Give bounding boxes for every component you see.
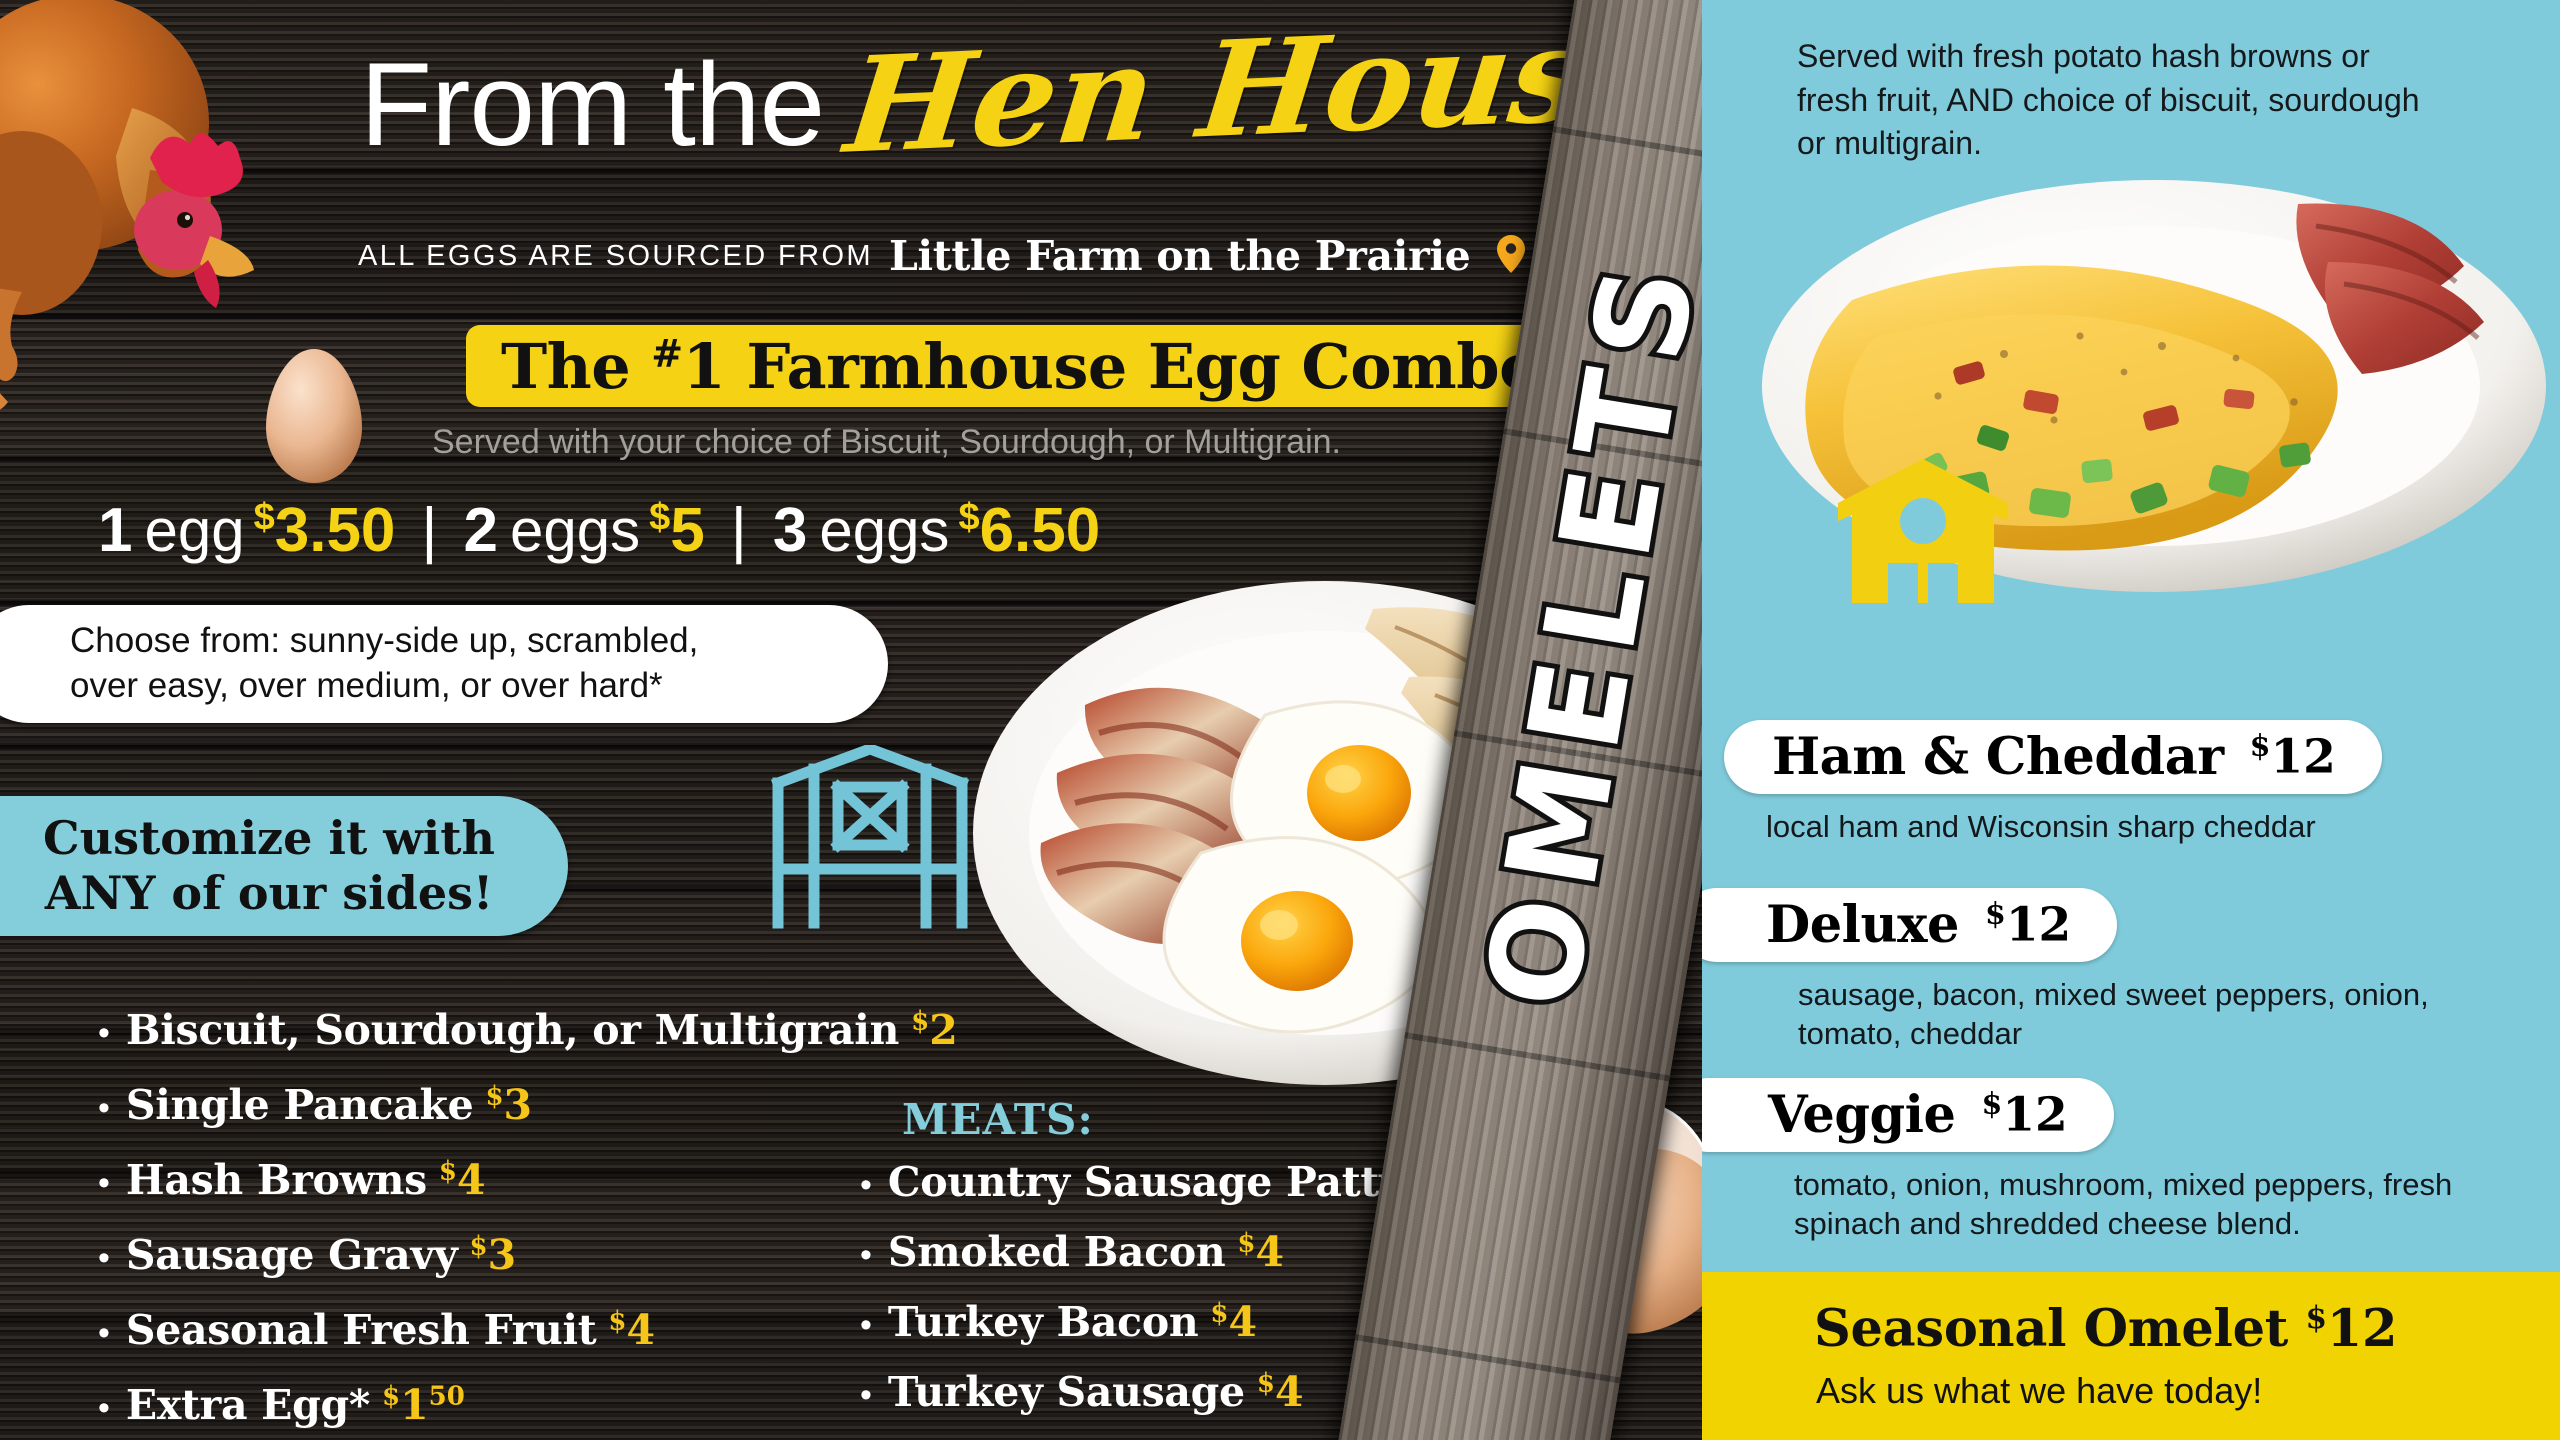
page-title: From the Hen House bbox=[360, 46, 1668, 164]
price-amount-3: $6.50 bbox=[958, 495, 1100, 566]
omelet-item-veggie: Veggie $12 tomato, onion, mushroom, mixe… bbox=[1702, 1078, 2454, 1244]
combo-banner: The #1 Farmhouse Egg Combo bbox=[466, 325, 1575, 407]
list-item: • Seasonal Fresh Fruit $4 bbox=[98, 1306, 958, 1354]
bullet-icon: • bbox=[98, 1091, 110, 1125]
omelet-description: local ham and Wisconsin sharp cheddar bbox=[1766, 808, 2382, 847]
meat-price: $4 bbox=[1210, 1298, 1257, 1346]
meat-name: Turkey Sausage bbox=[888, 1368, 1245, 1416]
side-name: Sausage Gravy bbox=[126, 1231, 458, 1279]
choose-line-2: over easy, over medium, or over hard* bbox=[70, 666, 663, 705]
price-separator-2: | bbox=[731, 495, 747, 566]
egg-style-callout: Choose from: sunny-side up, scrambled, o… bbox=[0, 605, 888, 723]
omelet-item-deluxe: Deluxe $12 sausage, bacon, mixed sweet p… bbox=[1702, 888, 2438, 1054]
side-name: Extra Egg* bbox=[126, 1381, 370, 1429]
omelet-name: Deluxe bbox=[1766, 895, 1959, 955]
list-item: • Country Sausage Patty $4 bbox=[860, 1158, 1461, 1206]
omelet-name-pill: Deluxe $12 bbox=[1702, 888, 2117, 962]
price-unit-3: eggs bbox=[819, 496, 949, 565]
customize-line-1: Customize it with bbox=[43, 811, 495, 865]
omelet-name: Veggie bbox=[1768, 1085, 1955, 1145]
side-price: $3 bbox=[485, 1081, 532, 1129]
side-price: $2 bbox=[911, 1006, 958, 1054]
sourced-label: ALL EGGS ARE SOURCED FROM bbox=[358, 240, 873, 273]
side-name: Biscuit, Sourdough, or Multigrain bbox=[126, 1006, 899, 1054]
omelet-price: $12 bbox=[1985, 897, 2071, 953]
side-price: $150 bbox=[382, 1381, 465, 1429]
omelet-description: tomato, onion, mushroom, mixed peppers, … bbox=[1794, 1166, 2454, 1244]
side-price: $4 bbox=[439, 1156, 486, 1204]
side-name: Hash Browns bbox=[126, 1156, 427, 1204]
list-item: • Sausage Gravy $3 bbox=[98, 1231, 958, 1279]
choose-line-1: Choose from: sunny-side up, scrambled, bbox=[70, 621, 698, 660]
list-item: • Biscuit, Sourdough, or Multigrain $2 bbox=[98, 1006, 958, 1054]
omelet-item-ham-cheddar: Ham & Cheddar $12 local ham and Wisconsi… bbox=[1724, 720, 2382, 847]
omelet-price: $12 bbox=[2250, 729, 2336, 785]
seasonal-omelet-band: Seasonal Omelet $12 Ask us what we have … bbox=[1702, 1272, 2560, 1440]
barn-outline-icon bbox=[770, 745, 970, 930]
bullet-icon: • bbox=[860, 1378, 872, 1412]
bullet-icon: • bbox=[98, 1016, 110, 1050]
side-price: $4 bbox=[608, 1306, 655, 1354]
omelet-name-pill: Ham & Cheddar $12 bbox=[1724, 720, 2382, 794]
side-name: Single Pancake bbox=[126, 1081, 474, 1129]
title-plain: From the bbox=[360, 46, 824, 164]
menu-board: From the Hen House ALL EGGS ARE SOURCED … bbox=[0, 0, 2560, 1440]
bullet-icon: • bbox=[98, 1391, 110, 1425]
whole-egg-photo bbox=[258, 345, 370, 487]
seasonal-omelet-subtitle: Ask us what we have today! bbox=[1816, 1370, 2262, 1412]
farm-name: Little Farm on the Prairie bbox=[889, 232, 1470, 280]
customize-line-2: ANY of our sides! bbox=[45, 866, 493, 920]
meat-name: Country Sausage Patty bbox=[888, 1158, 1403, 1206]
barn-solid-icon bbox=[1834, 455, 2012, 603]
seasonal-omelet-title: Seasonal Omelet $12 bbox=[1814, 1299, 2397, 1359]
omelets-served-note: Served with fresh potato hash browns or … bbox=[1797, 35, 2437, 166]
price-unit-1: egg bbox=[144, 496, 244, 565]
meat-price: $4 bbox=[1237, 1228, 1284, 1276]
meat-name: Turkey Bacon bbox=[888, 1298, 1199, 1346]
map-pin-icon bbox=[1496, 234, 1526, 279]
bullet-icon: • bbox=[98, 1316, 110, 1350]
bullet-icon: • bbox=[860, 1168, 872, 1202]
meat-price: $4 bbox=[1257, 1368, 1304, 1416]
customize-callout: Customize it with ANY of our sides! bbox=[0, 796, 568, 936]
bullet-icon: • bbox=[860, 1238, 872, 1272]
sides-list: • Biscuit, Sourdough, or Multigrain $2 •… bbox=[58, 1006, 958, 1440]
combo-banner-text: The #1 Farmhouse Egg Combo bbox=[501, 330, 1540, 403]
meats-heading: MEATS: bbox=[902, 1095, 1461, 1144]
price-amount-1: $3.50 bbox=[254, 495, 396, 566]
list-item: • Extra Egg* $150 bbox=[98, 1381, 958, 1429]
list-item: • Hash Browns $4 bbox=[98, 1156, 958, 1204]
omelet-description: sausage, bacon, mixed sweet peppers, oni… bbox=[1798, 976, 2438, 1054]
price-count-1: 1 bbox=[98, 495, 132, 566]
meat-name: Smoked Bacon bbox=[888, 1228, 1226, 1276]
side-price: $3 bbox=[470, 1231, 517, 1279]
price-amount-2: $5 bbox=[649, 495, 705, 566]
side-name: Seasonal Fresh Fruit bbox=[126, 1306, 596, 1354]
price-unit-2: eggs bbox=[510, 496, 640, 565]
omelet-name-pill: Veggie $12 bbox=[1702, 1078, 2114, 1152]
egg-price-row: 1 egg $3.50 | 2 eggs $5 | 3 eggs $6.50 bbox=[98, 495, 1100, 566]
omelet-name: Ham & Cheddar bbox=[1772, 727, 2224, 787]
combo-subtitle: Served with your choice of Biscuit, Sour… bbox=[432, 423, 1341, 462]
omelets-panel: Served with fresh potato hash browns or … bbox=[1702, 0, 2560, 1440]
bullet-icon: • bbox=[98, 1241, 110, 1275]
bullet-icon: • bbox=[860, 1308, 872, 1342]
omelet-price: $12 bbox=[1981, 1087, 2067, 1143]
list-item: • Single Pancake $3 bbox=[98, 1081, 958, 1129]
price-separator: | bbox=[421, 495, 437, 566]
price-count-2: 2 bbox=[464, 495, 498, 566]
sourcing-line: ALL EGGS ARE SOURCED FROM Little Farm on… bbox=[358, 232, 1684, 280]
bullet-icon: • bbox=[98, 1166, 110, 1200]
price-count-3: 3 bbox=[773, 495, 807, 566]
